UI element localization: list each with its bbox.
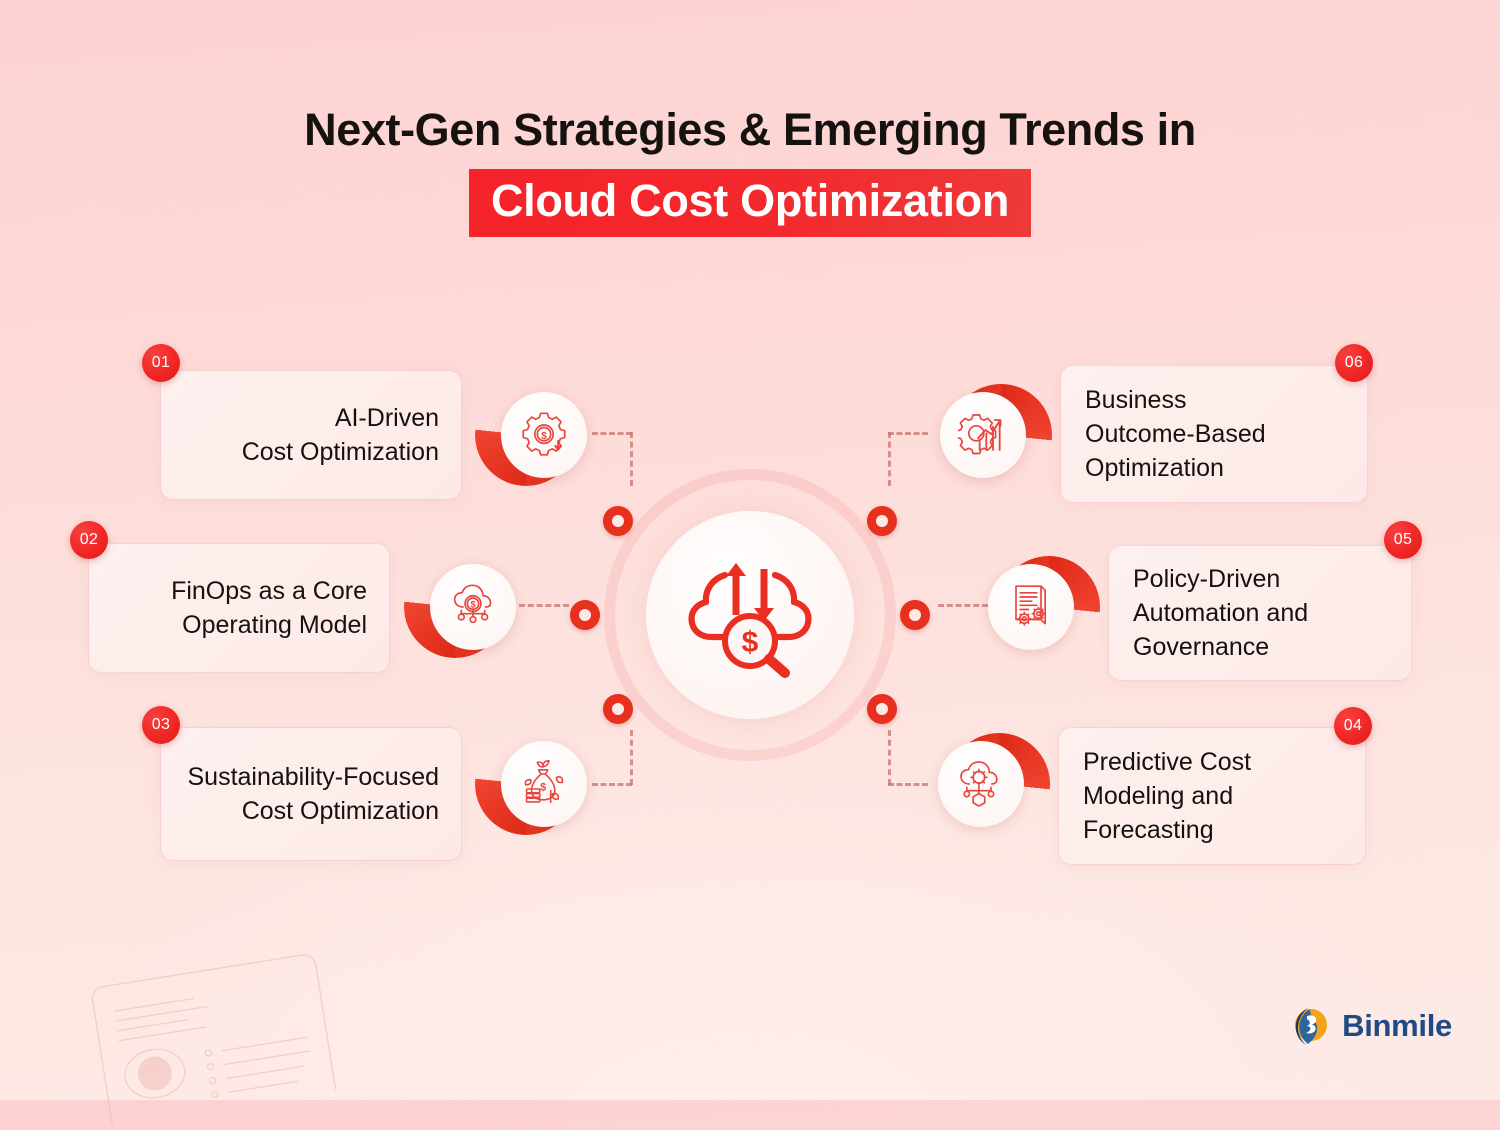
item-01-card[interactable]: AI-Driven Cost Optimization [160,370,462,500]
svg-text:$: $ [742,626,759,659]
hub-node-3 [603,694,633,724]
item-02-text: FinOps as a Core Operating Model [89,574,389,642]
item-04-line-3: Forecasting [1083,813,1349,847]
item-04-icon-circle[interactable] [938,741,1024,827]
title-line-1: Next-Gen Strategies & Emerging Trends in [0,104,1500,156]
connector-04-horizontal [888,783,928,786]
gear-dollar-arrow-icon: $ [519,410,569,460]
hub-node-4 [867,694,897,724]
hub-disc: $ [646,511,854,719]
svg-text:$: $ [470,599,475,609]
item-03-card[interactable]: Sustainability-Focused Cost Optimization [160,727,462,861]
logo-text: Binmile [1342,1008,1452,1044]
cloud-dollar-network-icon: $ [448,582,498,632]
connector-03-horizontal [592,783,632,786]
item-04-line-2: Modeling and [1083,779,1349,813]
item-05-line-3: Governance [1133,630,1395,664]
item-05-text: Policy-Driven Automation and Governance [1109,562,1411,664]
item-05-icon-cluster[interactable] [988,551,1100,663]
item-06-line-1: Business [1085,383,1351,417]
document-gears-icon [1006,582,1056,632]
connector-06-vertical [888,432,891,486]
item-02-icon-circle[interactable]: $ [430,564,516,650]
item-02-line-1: FinOps as a Core [107,574,367,608]
binmile-logo[interactable]: Binmile [1286,1004,1452,1048]
item-04-card[interactable]: Predictive Cost Modeling and Forecasting [1058,727,1366,865]
item-02-icon-cluster[interactable]: $ [404,551,516,663]
hub-node-2 [570,600,600,630]
connector-04-vertical [888,730,891,785]
hub-node-6 [867,506,897,536]
item-04-text: Predictive Cost Modeling and Forecasting [1059,745,1365,847]
item-03-icon-circle[interactable]: $ [501,741,587,827]
title-highlight: Cloud Cost Optimization [469,169,1031,237]
item-01-badge: 01 [142,344,180,382]
item-06-icon-cluster[interactable] [940,379,1052,491]
item-06-line-3: Optimization [1085,451,1351,485]
item-01-icon-circle[interactable]: $ [501,392,587,478]
connector-03-vertical [630,730,633,785]
svg-text:$: $ [541,431,547,442]
item-02-card[interactable]: FinOps as a Core Operating Model [88,543,390,673]
cloud-gear-nodes-icon [956,759,1006,809]
money-bag-plant-icon: $ [519,759,569,809]
hub-node-1 [603,506,633,536]
item-05-badge: 05 [1384,521,1422,559]
item-01-icon-cluster[interactable]: $ [475,379,587,491]
svg-text:$: $ [540,782,546,794]
item-05-line-1: Policy-Driven [1133,562,1395,596]
item-03-line-2: Cost Optimization [179,794,439,828]
item-03-badge: 03 [142,706,180,744]
item-03-icon-cluster[interactable]: $ [475,728,587,840]
item-05-icon-circle[interactable] [988,564,1074,650]
item-05-line-2: Automation and [1133,596,1395,630]
connector-01-vertical [630,432,633,486]
hub-node-5 [900,600,930,630]
item-03-text: Sustainability-Focused Cost Optimization [161,760,461,828]
item-06-line-2: Outcome-Based [1085,417,1351,451]
item-06-card[interactable]: Business Outcome-Based Optimization [1060,365,1368,503]
item-01-line-1: AI-Driven [179,401,439,435]
item-02-badge: 02 [70,521,108,559]
item-04-badge: 04 [1334,707,1372,745]
center-hub: $ [585,450,915,780]
item-06-badge: 06 [1335,344,1373,382]
connector-02-horizontal [519,604,569,607]
connector-06-horizontal [888,432,928,435]
connector-05-horizontal [938,604,988,607]
cloud-cost-magnifier-icon: $ [681,549,819,681]
item-03-line-1: Sustainability-Focused [179,760,439,794]
page-title: Next-Gen Strategies & Emerging Trends in… [0,104,1500,237]
item-01-text: AI-Driven Cost Optimization [161,401,461,469]
item-05-card[interactable]: Policy-Driven Automation and Governance [1108,545,1412,681]
item-06-icon-circle[interactable] [940,392,1026,478]
decorative-document-watermark [88,951,337,1125]
item-06-text: Business Outcome-Based Optimization [1061,383,1367,485]
gear-bar-chart-icon [958,410,1008,460]
item-04-icon-cluster[interactable] [938,728,1050,840]
connector-01-horizontal [592,432,632,435]
item-02-line-2: Operating Model [107,608,367,642]
binmile-logo-mark [1286,1004,1330,1048]
item-04-line-1: Predictive Cost [1083,745,1349,779]
item-01-line-2: Cost Optimization [179,435,439,469]
